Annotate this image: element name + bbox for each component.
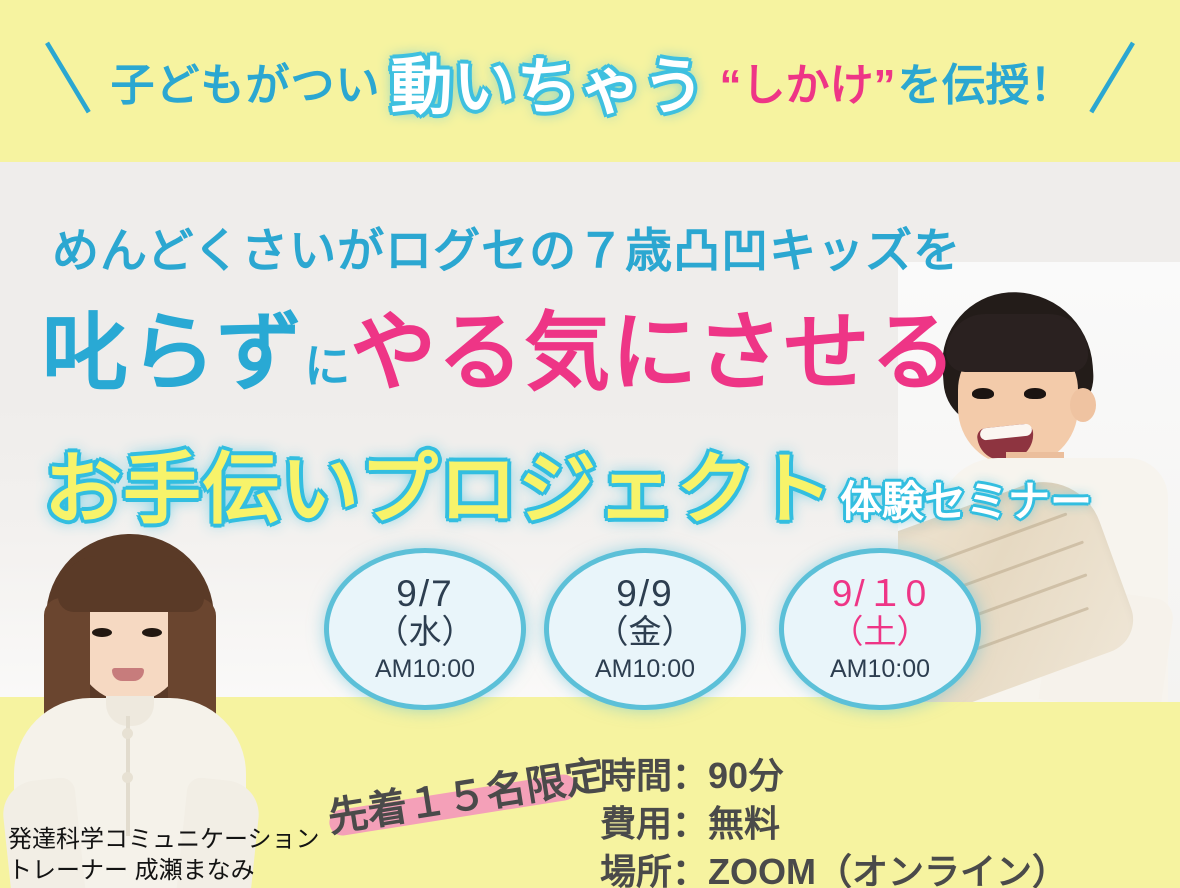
boy-eye-right [1024,388,1046,399]
date-weekday: （水） [376,614,475,651]
top-catch-part-b: 動いちゃう [390,36,705,126]
seminar-info-list: 時間：90分 費用：無料 場所：ZOOM（オンライン） [600,752,1068,888]
presenter-role: 発達科学コミュニケーション [8,824,320,855]
main-headline-line-2: お手伝いプロジェクト体験セミナー [44,450,1092,528]
capacity-badge: 先着１５名限定 [318,756,593,828]
date-option-2[interactable]: 9/9 （金） AM10:00 [544,548,746,710]
top-catch-part-d: を伝授！ [898,49,1074,113]
sub-headline: めんどくさいがログセの７歳凸凹キッズを [52,212,961,281]
slash-left-icon: ＼ [30,43,105,118]
date-option-1[interactable]: 9/7 （水） AM10:00 [324,548,526,710]
headline-yaruki: やる気にさせる [350,305,957,401]
presenter-button [122,728,133,739]
date-option-3[interactable]: 9/１0 （土） AM10:00 [779,548,981,710]
boy-eye-left [972,388,994,399]
top-catch-part-a: 子どもがつい [110,49,380,113]
date-weekday: （金） [596,614,695,651]
date-weekday: （土） [831,614,930,651]
presenter-fringe [58,556,204,612]
info-fee: 費用：無料 [600,800,1068,848]
presenter-caption: 発達科学コミュニケーション トレーナー 成瀬まなみ [8,824,320,886]
boy-fringe [946,314,1088,372]
boy-ear [1070,388,1096,422]
date-value: 9/9 [616,573,673,614]
slash-right-icon: ／ [1075,43,1150,118]
date-time: AM10:00 [830,653,930,686]
headline-ni: に [304,340,350,392]
presenter-button [122,772,133,783]
headline-shikarazu: 叱らず [42,305,304,401]
presenter-mouth [112,668,144,681]
headline-seminar: 体験セミナー [840,478,1092,525]
presenter-eye-right [142,628,162,637]
date-time: AM10:00 [595,653,695,686]
presenter-eye-left [92,628,112,637]
info-duration: 時間：90分 [600,752,1068,800]
top-catch-part-c: “しかけ” [720,49,896,113]
date-value: 9/１0 [832,573,928,614]
main-headline-line-1: 叱らずにやる気にさせる [42,310,958,396]
top-catch-strip: ＼ 子どもがつい 動いちゃう “しかけ” を伝授！ ／ [0,0,1180,162]
date-time: AM10:00 [375,653,475,686]
date-value: 9/7 [396,573,453,614]
info-place: 場所：ZOOM（オンライン） [600,848,1068,888]
presenter-name: トレーナー 成瀬まなみ [8,855,320,886]
seminar-flyer: ＼ 子どもがつい 動いちゃう “しかけ” を伝授！ ／ めんどくさいがログセの７… [0,0,1180,888]
